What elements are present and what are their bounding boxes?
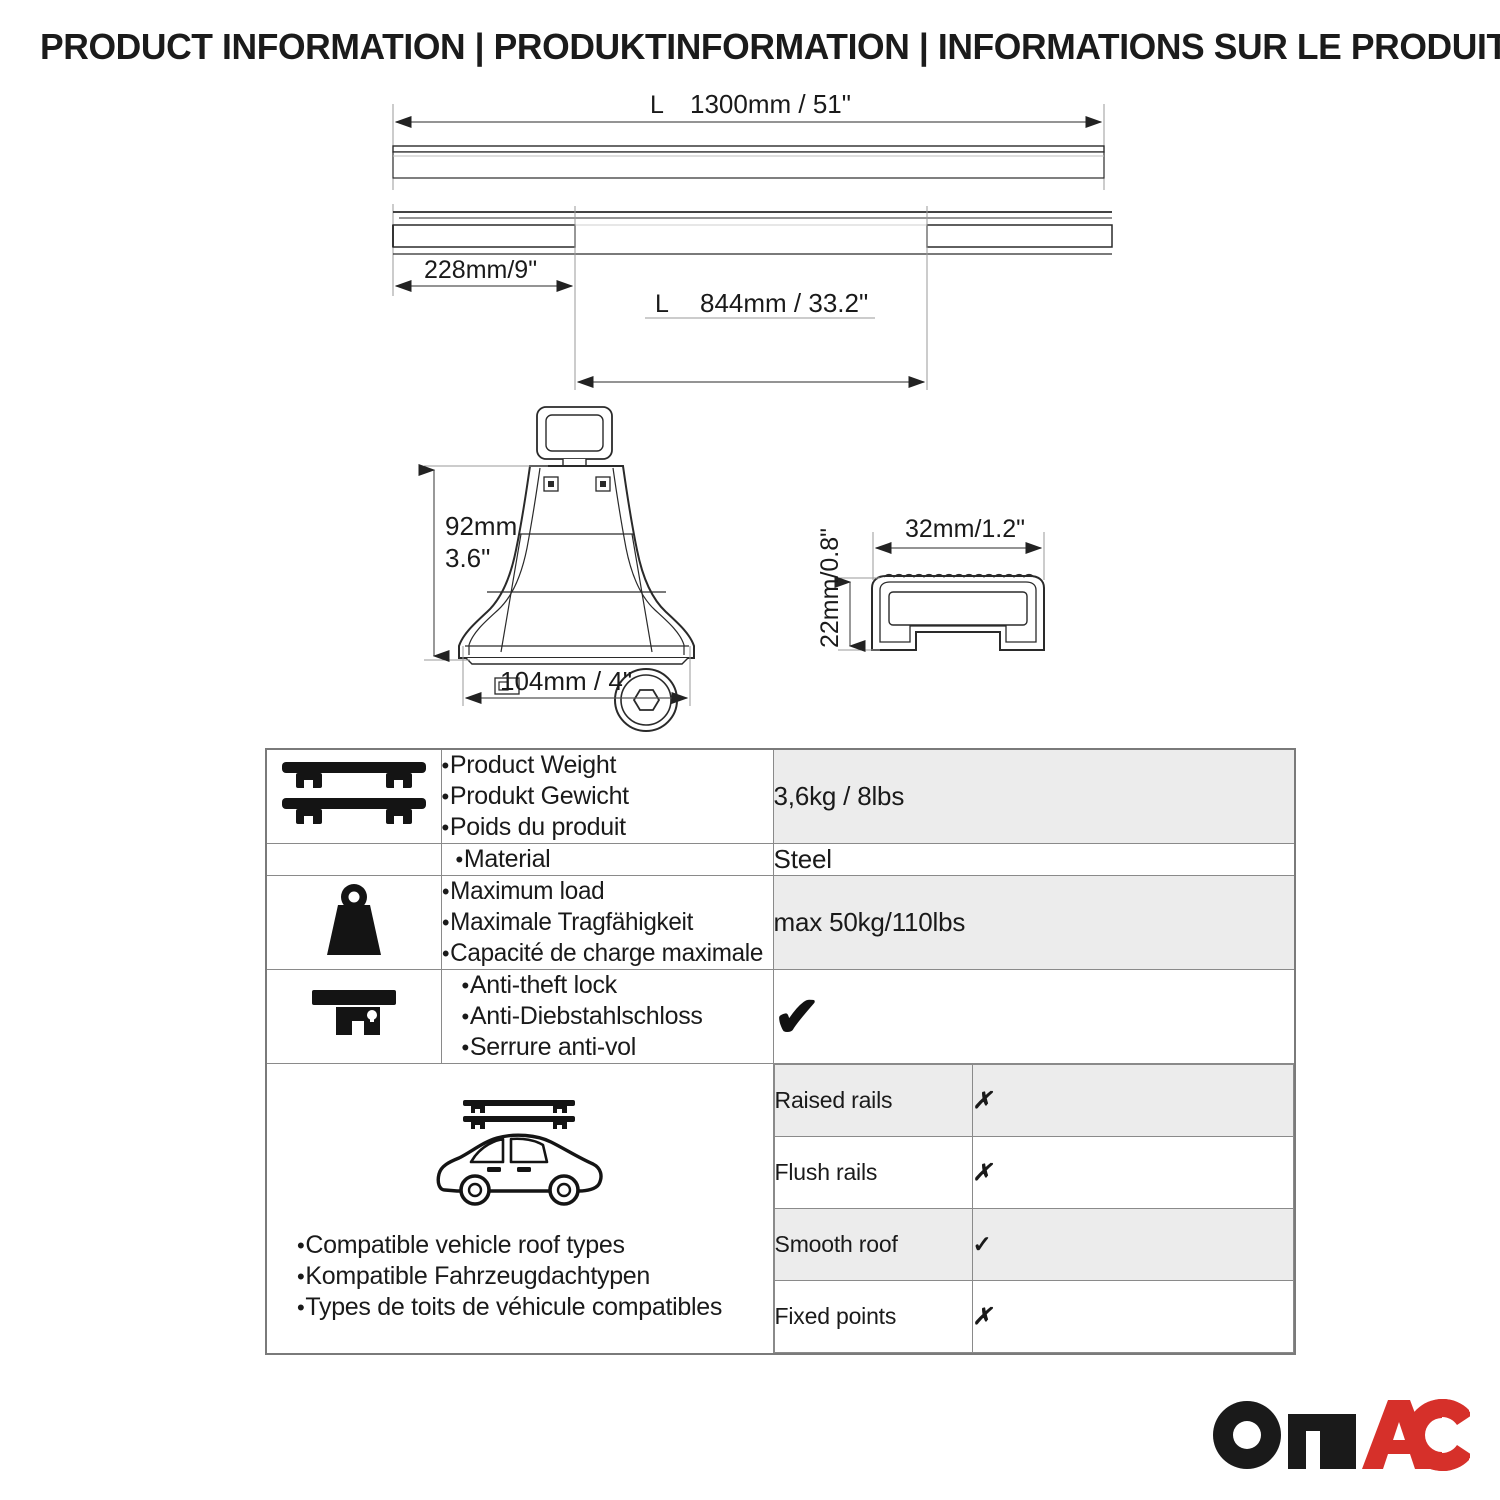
roof-types-label-de: Kompatible Fahrzeugdachtypen xyxy=(297,1261,773,1292)
roof-type-name-raised-rails: Raised rails xyxy=(774,1065,972,1137)
material-value: Steel xyxy=(773,844,1295,876)
weight-row-labels: Product Weight Produkt Gewicht Poids du … xyxy=(441,749,773,844)
lock-value-cell: ✔ xyxy=(773,970,1295,1064)
omac-letter-m xyxy=(1288,1414,1356,1469)
end-offset-value: 228mm/9" xyxy=(424,256,537,284)
crossbar-side-view xyxy=(393,146,1104,178)
max-load-value: max 50kg/110lbs xyxy=(773,876,1295,970)
foot-width-value: 104mm / 4" xyxy=(500,666,632,696)
car-with-roof-rack-icon xyxy=(427,1094,612,1219)
foot-height-value: 92mm xyxy=(445,511,517,541)
weight-value: 3,6kg / 8lbs xyxy=(773,749,1295,844)
weight-label-fr: Poids du produit xyxy=(442,812,773,843)
lock-label-de: Anti-Diebstahlschloss xyxy=(462,1001,773,1032)
omac-letter-o xyxy=(1213,1401,1281,1469)
roof-type-mark-smooth-roof: ✓ xyxy=(972,1209,1293,1281)
roof-type-name-flush-rails: Flush rails xyxy=(774,1137,972,1209)
weight-label-de: Produkt Gewicht xyxy=(442,781,773,812)
max-load-label-fr: Capacité de charge maximale xyxy=(442,938,763,969)
material-row-icon-cell xyxy=(266,844,441,876)
roof-type-name-fixed-points: Fixed points xyxy=(774,1281,972,1353)
anti-theft-lock-icon xyxy=(306,982,402,1046)
roof-type-row-flush-rails: Flush rails ✗ xyxy=(774,1137,1293,1209)
roof-types-left-cell: Compatible vehicle roof types Kompatible… xyxy=(266,1064,773,1355)
table-row-material: Material Steel xyxy=(266,844,1295,876)
two-crossbars-icon xyxy=(274,754,434,834)
lock-label-fr: Serrure anti-vol xyxy=(462,1032,773,1063)
roof-type-row-fixed-points: Fixed points ✗ xyxy=(774,1281,1293,1353)
max-load-row-labels: Maximum load Maximale Tragfähigkeit Capa… xyxy=(441,876,773,970)
weight-row-icon-cell xyxy=(266,749,441,844)
omac-logo-mark xyxy=(1210,1398,1470,1472)
profile-height-value: 22mm/0.8" xyxy=(816,528,844,648)
omac-logo xyxy=(1210,1398,1470,1472)
roof-types-right-cell: Raised rails ✗ Flush rails ✗ Smooth roof… xyxy=(773,1064,1295,1355)
roof-types-label-fr: Types de toits de véhicule compatibles xyxy=(297,1292,773,1323)
roof-type-mark-raised-rails: ✗ xyxy=(972,1065,1293,1137)
max-load-label-en: Maximum load xyxy=(442,876,763,907)
table-row-max-load: Maximum load Maximale Tragfähigkeit Capa… xyxy=(266,876,1295,970)
lock-check-mark: ✔ xyxy=(774,985,821,1048)
roof-type-row-raised-rails: Raised rails ✗ xyxy=(774,1065,1293,1137)
roof-type-name-smooth-roof: Smooth roof xyxy=(774,1209,972,1281)
lock-row-icon-cell xyxy=(266,970,441,1064)
overall-length-value: 1300mm / 51" xyxy=(690,89,851,119)
lock-label-en: Anti-theft lock xyxy=(462,970,773,1001)
roof-type-row-smooth-roof: Smooth roof ✓ xyxy=(774,1209,1293,1281)
span-value: 844mm / 33.2" xyxy=(700,288,868,318)
product-spec-table: Product Weight Produkt Gewicht Poids du … xyxy=(265,748,1296,1355)
span-prefix: L xyxy=(655,290,669,318)
profile-width-value: 32mm/1.2" xyxy=(905,515,1025,543)
roof-types-subtable: Raised rails ✗ Flush rails ✗ Smooth roof… xyxy=(774,1064,1294,1353)
table-row-roof-types: Compatible vehicle roof types Kompatible… xyxy=(266,1064,1295,1355)
material-label-en: Material xyxy=(456,844,773,875)
table-row-weight: Product Weight Produkt Gewicht Poids du … xyxy=(266,749,1295,844)
max-load-label-de: Maximale Tragfähigkeit xyxy=(442,907,763,938)
page-title: PRODUCT INFORMATION | PRODUKTINFORMATION… xyxy=(40,24,1449,70)
roof-type-mark-flush-rails: ✗ xyxy=(972,1137,1293,1209)
material-row-labels: Material xyxy=(441,844,773,876)
technical-drawing: L 1300mm / 51" 228mm/9" L 844mm / 33.2" … xyxy=(0,80,1500,740)
table-row-anti-theft-lock: Anti-theft lock Anti-Diebstahlschloss Se… xyxy=(266,970,1295,1064)
profile-cross-section xyxy=(872,575,1044,651)
weight-label-en: Product Weight xyxy=(442,750,773,781)
lock-row-labels: Anti-theft lock Anti-Diebstahlschloss Se… xyxy=(441,970,773,1064)
weight-kettlebell-icon xyxy=(311,877,397,963)
overall-length-prefix: L xyxy=(650,91,664,119)
max-load-row-icon-cell xyxy=(266,876,441,970)
roof-type-mark-fixed-points: ✗ xyxy=(972,1281,1293,1353)
foot-height-inch-value: 3.6" xyxy=(445,543,490,573)
roof-types-label-en: Compatible vehicle roof types xyxy=(297,1230,773,1261)
